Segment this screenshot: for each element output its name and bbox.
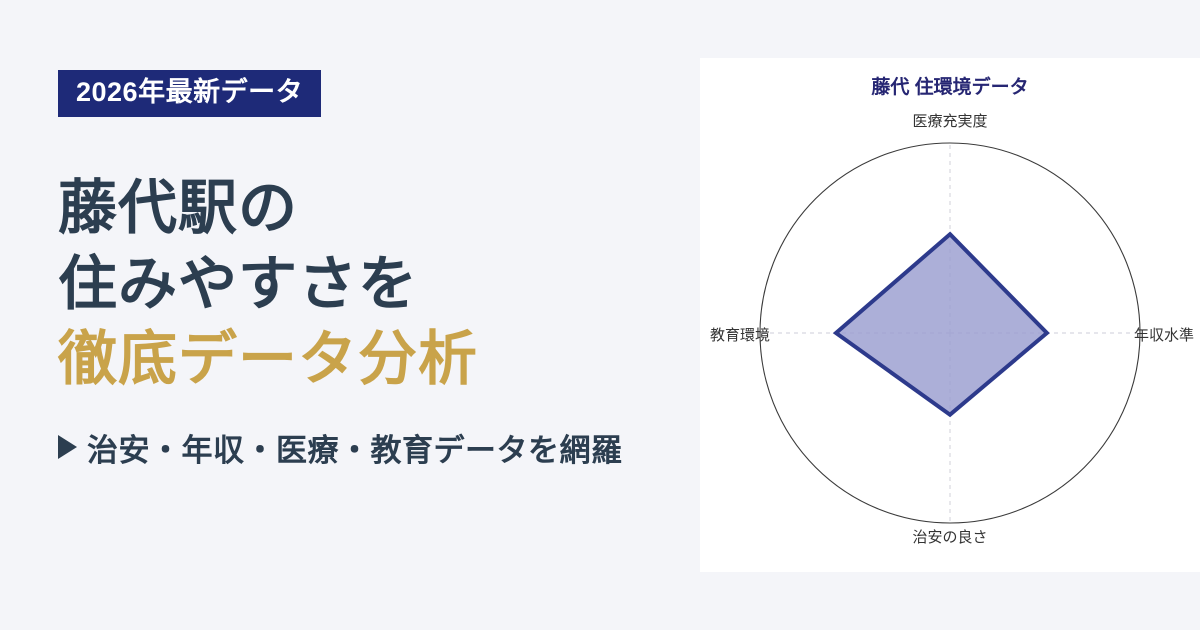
radar-chart-panel: 藤代 住環境データ 医療充実度 年収水準 治安の良さ 教育環境 <box>700 58 1200 572</box>
radar-chart-svg <box>700 58 1200 572</box>
hero-text-column: 2026年最新データ 藤代駅の 住みやすさを 徹底データ分析 治安・年収・医療・… <box>0 0 700 630</box>
radar-axis-label-right: 年収水準 <box>1134 324 1194 345</box>
subtitle: 治安・年収・医療・教育データを網羅 <box>58 425 700 470</box>
radar-axis-label-bottom: 治安の良さ <box>700 526 1200 547</box>
page-title: 藤代駅の 住みやすさを 徹底データ分析 <box>58 171 700 398</box>
headline-line-3: 徹底データ分析 <box>58 322 700 398</box>
radar-axis-label-left: 教育環境 <box>710 324 770 345</box>
headline-line-1: 藤代駅の <box>58 171 700 247</box>
radar-axis-label-top: 医療充実度 <box>700 110 1200 131</box>
subtitle-label: 治安・年収・医療・教育データを網羅 <box>87 425 623 470</box>
headline-line-2: 住みやすさを <box>58 247 700 323</box>
status-badge: 2026年最新データ <box>58 70 321 117</box>
triangle-right-icon <box>58 435 77 459</box>
radar-data-polygon <box>836 234 1047 415</box>
